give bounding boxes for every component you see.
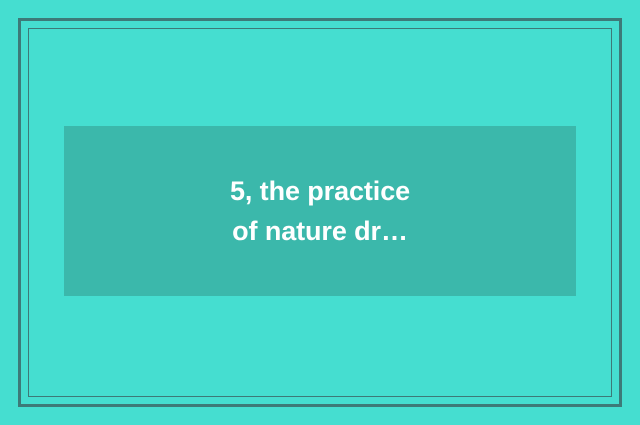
slide-canvas: 5, the practice of nature dr… [0,0,640,425]
caption-panel: 5, the practice of nature dr… [64,126,576,296]
caption-line-2: of nature dr… [232,211,408,251]
caption-line-1: 5, the practice [230,171,410,211]
